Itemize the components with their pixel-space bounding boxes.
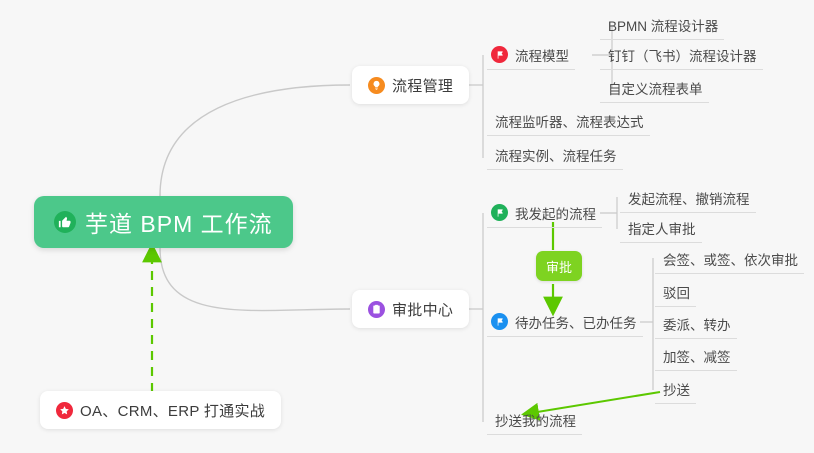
node-cc-my-process[interactable]: 抄送我的流程 bbox=[487, 405, 582, 435]
tag-node-label: OA、CRM、ERP 打通实战 bbox=[80, 400, 265, 421]
mindmap-canvas: 芋道 BPM 工作流 OA、CRM、ERP 打通实战 流程管理 流程模型 BPM… bbox=[0, 0, 814, 453]
node-custom-process-form[interactable]: 自定义流程表单 bbox=[600, 73, 709, 103]
star-icon bbox=[56, 402, 73, 419]
node-process-model[interactable]: 流程模型 bbox=[487, 40, 575, 70]
node-process-instance-task[interactable]: 流程实例、流程任务 bbox=[487, 140, 623, 170]
node-delegate-transfer[interactable]: 委派、转办 bbox=[655, 309, 737, 339]
flag-blue-icon bbox=[491, 313, 508, 330]
wire-root-to-process-management bbox=[160, 85, 350, 196]
badge-approval-label: 审批 bbox=[546, 257, 572, 276]
node-add-remove-sign-label: 加签、减签 bbox=[663, 346, 731, 366]
node-assignee-approval[interactable]: 指定人审批 bbox=[620, 213, 702, 243]
node-start-cancel-process-label: 发起流程、撤销流程 bbox=[628, 188, 750, 208]
lightbulb-icon bbox=[368, 77, 385, 94]
node-start-cancel-process[interactable]: 发起流程、撤销流程 bbox=[620, 183, 756, 213]
node-process-listener-label: 流程监听器、流程表达式 bbox=[495, 111, 644, 131]
node-my-started-process[interactable]: 我发起的流程 bbox=[487, 198, 602, 228]
branch-approval-center-label: 审批中心 bbox=[392, 299, 453, 320]
node-process-listener[interactable]: 流程监听器、流程表达式 bbox=[487, 106, 650, 136]
node-custom-process-form-label: 自定义流程表单 bbox=[608, 78, 703, 98]
branch-approval-center[interactable]: 审批中心 bbox=[352, 290, 469, 328]
clipboard-icon bbox=[368, 301, 385, 318]
node-delegate-transfer-label: 委派、转办 bbox=[663, 314, 731, 334]
branch-process-management-label: 流程管理 bbox=[392, 75, 453, 96]
thumbs-up-icon bbox=[54, 211, 76, 233]
badge-approval[interactable]: 审批 bbox=[536, 251, 582, 281]
node-countersign[interactable]: 会签、或签、依次审批 bbox=[655, 244, 804, 274]
node-process-model-label: 流程模型 bbox=[515, 45, 569, 65]
node-countersign-label: 会签、或签、依次审批 bbox=[663, 249, 798, 269]
node-dingtalk-feishu-designer-label: 钉钉（飞书）流程设计器 bbox=[608, 45, 757, 65]
node-process-instance-task-label: 流程实例、流程任务 bbox=[495, 145, 617, 165]
node-dingtalk-feishu-designer[interactable]: 钉钉（飞书）流程设计器 bbox=[600, 40, 763, 70]
flag-red-icon bbox=[491, 46, 508, 63]
node-reject[interactable]: 驳回 bbox=[655, 277, 696, 307]
tag-node-integration[interactable]: OA、CRM、ERP 打通实战 bbox=[40, 391, 281, 429]
node-bpmn-designer-label: BPMN 流程设计器 bbox=[608, 15, 718, 35]
node-reject-label: 驳回 bbox=[663, 282, 690, 302]
flag-green-icon bbox=[491, 204, 508, 221]
node-cc[interactable]: 抄送 bbox=[655, 374, 696, 404]
node-cc-label: 抄送 bbox=[663, 379, 690, 399]
node-add-remove-sign[interactable]: 加签、减签 bbox=[655, 341, 737, 371]
node-cc-my-process-label: 抄送我的流程 bbox=[495, 410, 576, 430]
root-node[interactable]: 芋道 BPM 工作流 bbox=[34, 196, 293, 248]
node-todo-done-task[interactable]: 待办任务、已办任务 bbox=[487, 307, 643, 337]
node-assignee-approval-label: 指定人审批 bbox=[628, 218, 696, 238]
node-my-started-process-label: 我发起的流程 bbox=[515, 203, 596, 223]
node-bpmn-designer[interactable]: BPMN 流程设计器 bbox=[600, 10, 724, 40]
root-label: 芋道 BPM 工作流 bbox=[85, 205, 273, 239]
node-todo-done-task-label: 待办任务、已办任务 bbox=[515, 312, 637, 332]
branch-process-management[interactable]: 流程管理 bbox=[352, 66, 469, 104]
wire-root-to-approval-center bbox=[160, 248, 350, 311]
